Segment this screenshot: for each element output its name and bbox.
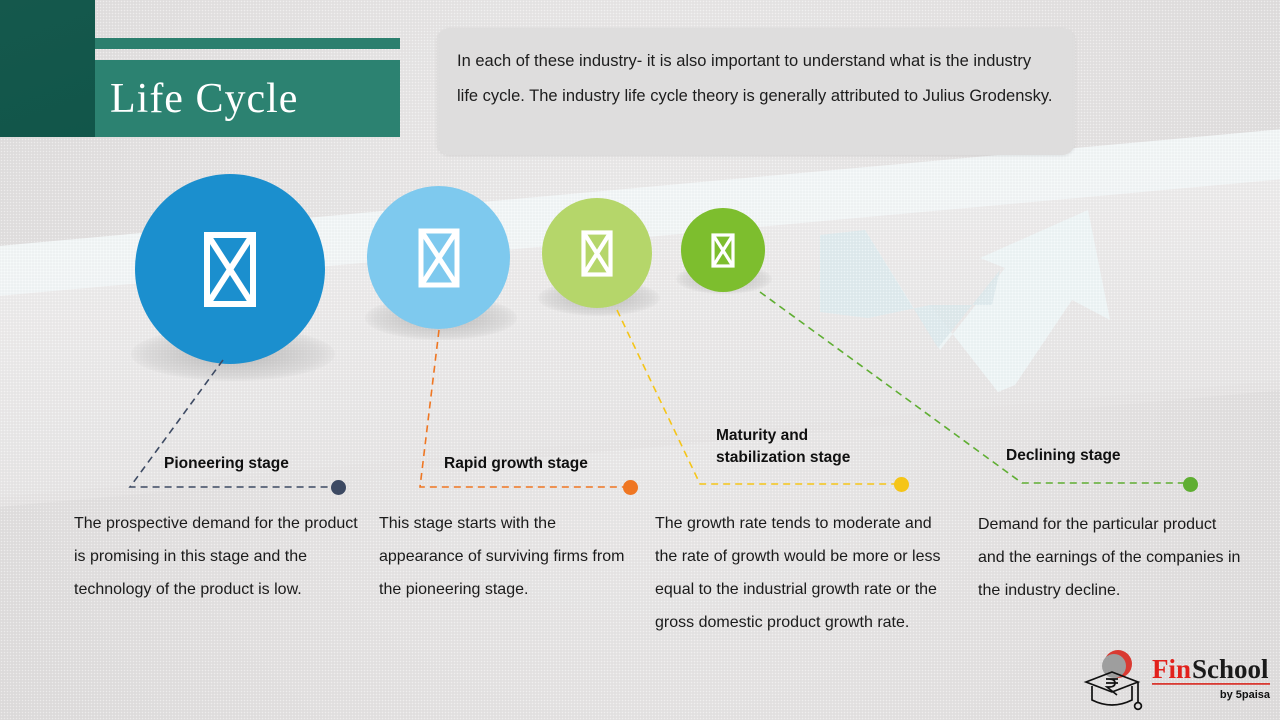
stage-label-2: Rapid growth stage [444,453,674,475]
intro-description-text: In each of these industry- it is also im… [457,44,1055,114]
finschool-logo[interactable]: Fin School by 5paisa [1080,648,1276,716]
stage-label-1: Pioneering stage [164,453,384,475]
missing-glyph-icon [418,228,460,288]
stage-circle-4[interactable] [681,208,765,292]
logo-text-school: School [1192,654,1269,684]
stage-circle-1[interactable] [135,174,325,364]
stage-body-4: Demand for the particular product and th… [978,508,1246,607]
missing-glyph-icon [581,230,613,277]
title-thin-bar [95,38,400,49]
stage-label-3: Maturity and stabilization stage [716,425,946,469]
stage-label-2-line1: Rapid growth stage [444,453,674,475]
stage-body-2: This stage starts with the appearance of… [379,507,637,606]
stage-dot-3 [894,477,909,492]
slide-canvas: Life Cycle In each of these industry- it… [0,0,1280,720]
stage-label-3-line2: stabilization stage [716,447,946,469]
stage-label-1-line1: Pioneering stage [164,453,384,475]
stage-dot-4 [1183,477,1198,492]
stage-dot-1 [331,480,346,495]
title-accent-block [0,0,95,137]
stage-circle-2[interactable] [367,186,510,329]
stage-label-4: Declining stage [1006,445,1226,467]
stage-label-4-line1: Declining stage [1006,445,1226,467]
stage-body-1: The prospective demand for the product i… [74,507,364,606]
stage-label-3-line1: Maturity and [716,425,946,447]
missing-glyph-icon [711,233,735,268]
page-title: Life Cycle [110,60,410,137]
intro-description-box: In each of these industry- it is also im… [437,28,1075,155]
logo-byline: by 5paisa [1220,689,1271,701]
stage-circle-3[interactable] [542,198,652,308]
stage-dot-2 [623,480,638,495]
logo-text-fin: Fin [1152,654,1191,684]
missing-glyph-icon [204,232,256,307]
stage-body-3: The growth rate tends to moderate and th… [655,507,951,639]
